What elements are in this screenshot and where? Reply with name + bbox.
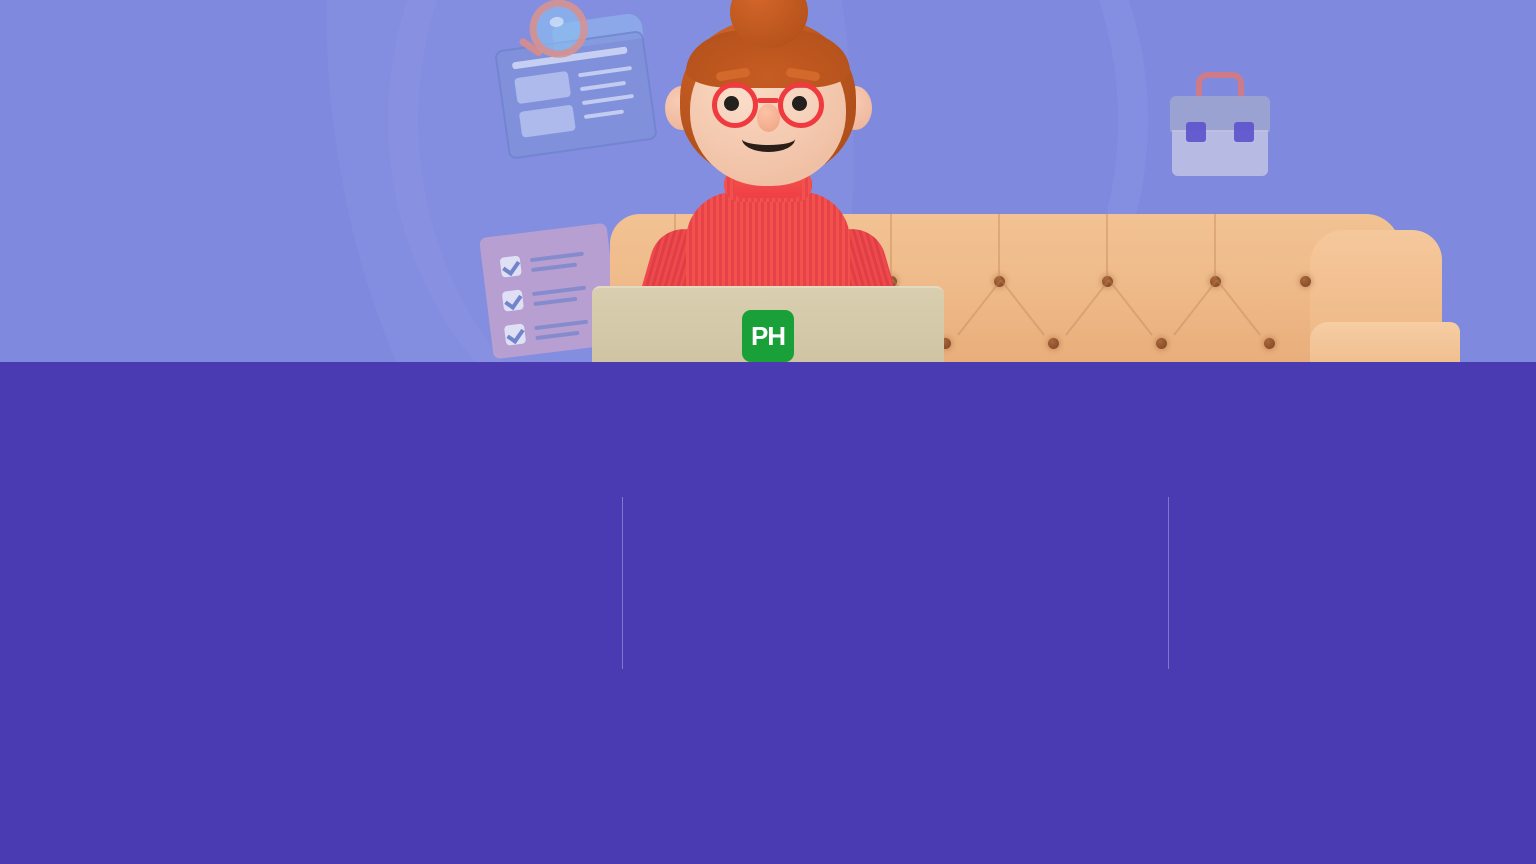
checklist-line-1b <box>531 263 577 273</box>
sofa-seam <box>998 214 1000 278</box>
layout-guide-right <box>1168 497 1169 669</box>
briefcase-handle <box>1196 72 1244 98</box>
checklist-checkbox-1 <box>500 255 522 277</box>
checklist-line-1a <box>530 252 584 263</box>
sofa-seam <box>1214 214 1216 278</box>
magnifying-glass-icon <box>526 0 592 61</box>
glasses-bridge <box>757 98 779 103</box>
magnifier-shine <box>549 16 564 28</box>
document-block-1 <box>514 71 571 104</box>
laptop-ph-logo: PH <box>742 310 794 362</box>
sofa-button <box>1264 338 1275 349</box>
briefcase-top <box>1170 96 1270 132</box>
laptop: PH <box>592 286 944 362</box>
character-eye-left <box>724 96 739 111</box>
hero-illustration: PH <box>0 0 1536 362</box>
document-search-icon <box>492 16 658 160</box>
checklist-checkbox-3 <box>504 323 526 345</box>
sofa-seam <box>890 214 892 278</box>
character-eye-right <box>792 96 807 111</box>
layout-guide-left <box>622 497 623 669</box>
checklist-line-3a <box>534 320 588 331</box>
banner: PH What are the parts of a Project manag… <box>0 0 1536 864</box>
checklist-checkbox-2 <box>502 289 524 311</box>
document-line-4 <box>584 109 624 119</box>
document-line-2 <box>580 81 626 91</box>
briefcase-icon <box>1170 88 1270 176</box>
checklist-line-3b <box>535 331 579 340</box>
sofa-button <box>1156 338 1167 349</box>
title-band: What are the parts of a Project manageme… <box>0 362 1536 864</box>
document-line-3 <box>582 94 634 105</box>
document-block-2 <box>519 105 576 138</box>
sofa-button <box>1048 338 1059 349</box>
sofa-seam <box>1106 214 1108 278</box>
checklist-line-2b <box>533 297 577 306</box>
sofa-button <box>1300 276 1311 287</box>
sofa-arm-right <box>1310 322 1460 362</box>
briefcase-clasp-right <box>1234 122 1254 142</box>
character-mouth <box>742 126 795 152</box>
briefcase-clasp-left <box>1186 122 1206 142</box>
checklist-line-2a <box>532 286 586 297</box>
document-line-1 <box>578 66 632 77</box>
